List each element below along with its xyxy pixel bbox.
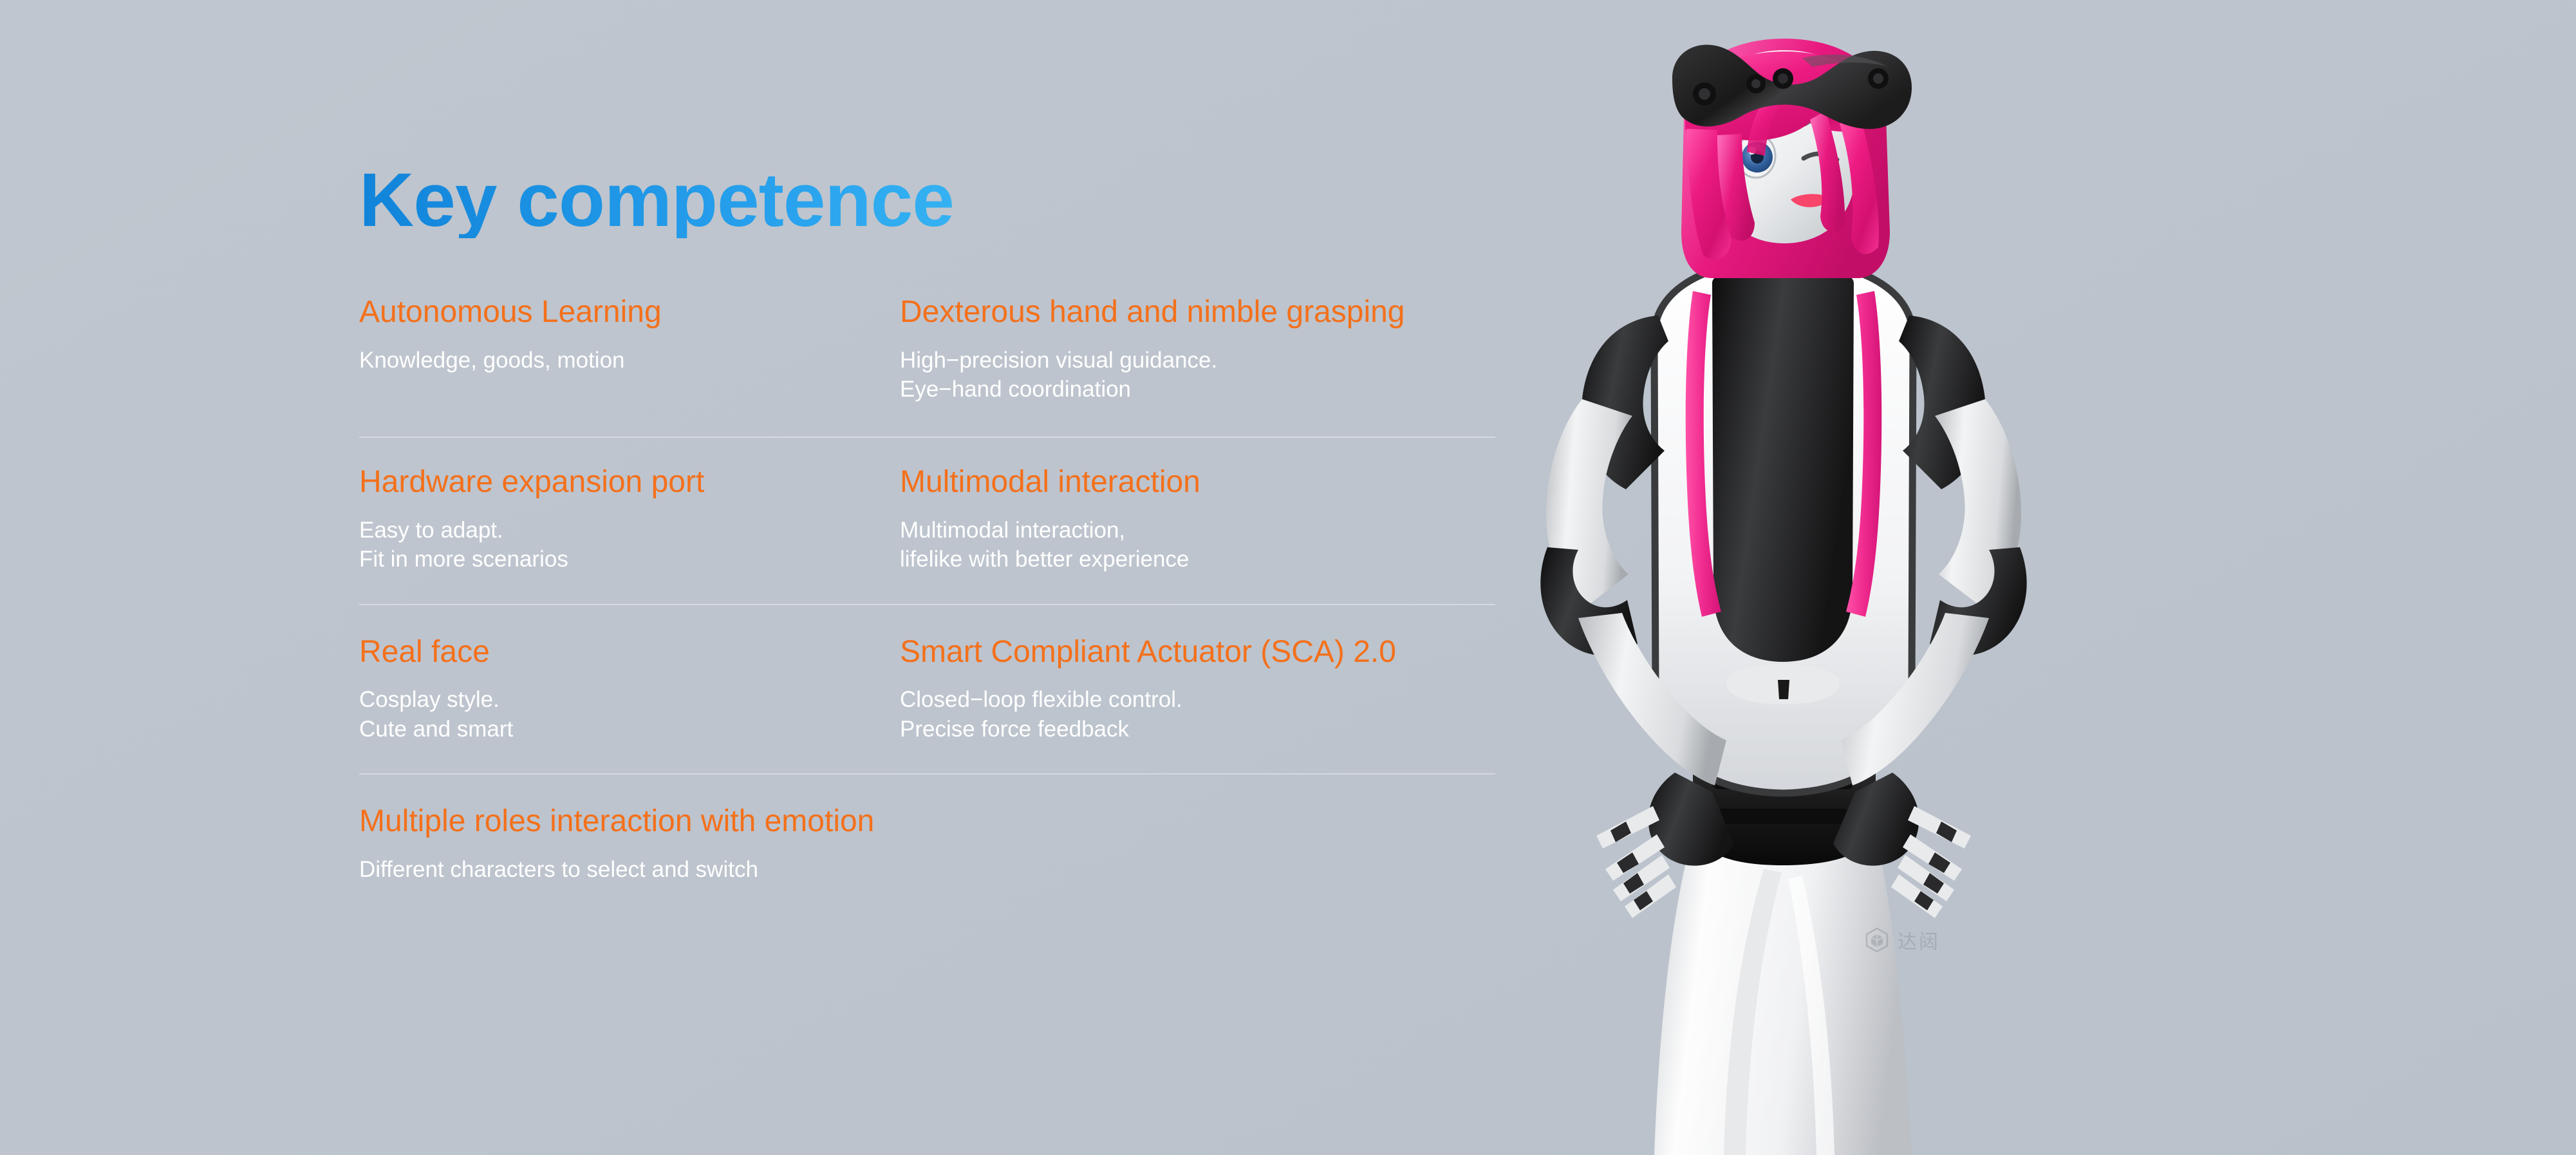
feature-heading: Autonomous Learning (359, 295, 900, 330)
feature-cell: Multiple roles interaction with emotion … (359, 804, 971, 884)
feature-body: Cosplay style. Cute and smart (359, 685, 900, 744)
feature-grid: Autonomous Learning Knowledge, goods, mo… (359, 295, 1511, 885)
feature-cell: Hardware expansion port Easy to adapt. F… (359, 465, 900, 574)
feature-heading: Smart Compliant Actuator (SCA) 2.0 (900, 635, 1511, 670)
feature-cell: Multimodal interaction Multimodal intera… (900, 465, 1511, 574)
feature-heading: Multiple roles interaction with emotion (359, 804, 971, 839)
feature-body: High−precision visual guidance. Eye−hand… (900, 346, 1511, 404)
feature-heading: Dexterous hand and nimble grasping (900, 295, 1511, 330)
brand-name-cn: 达闼 (1898, 926, 1940, 954)
feature-body: Multimodal interaction, lifelike with be… (900, 516, 1511, 574)
page-title: Key competence (359, 162, 1511, 238)
feature-cell: Real face Cosplay style. Cute and smart (359, 635, 900, 744)
content-area: Key competence Autonomous Learning Knowl… (359, 162, 1511, 885)
feature-body: Closed−loop flexible control. Precise fo… (900, 685, 1511, 744)
feature-heading: Hardware expansion port (359, 465, 900, 500)
feature-heading: Real face (359, 635, 900, 670)
feature-cell: Autonomous Learning Knowledge, goods, mo… (359, 295, 900, 404)
feature-cell: Dexterous hand and nimble grasping High−… (900, 295, 1511, 404)
cube-logo-icon (1864, 927, 1890, 953)
feature-row: Multiple roles interaction with emotion … (359, 775, 1511, 884)
feature-body: Knowledge, goods, motion (359, 346, 900, 375)
feature-body: Different characters to select and switc… (359, 855, 971, 885)
feature-row: Autonomous Learning Knowledge, goods, mo… (359, 295, 1511, 437)
brand-watermark: 达闼 (1864, 926, 1940, 954)
feature-body: Easy to adapt. Fit in more scenarios (359, 516, 900, 574)
feature-row: Hardware expansion port Easy to adapt. F… (359, 438, 1511, 604)
robot-chest-panel (1712, 270, 1854, 662)
feature-row: Real face Cosplay style. Cute and smart … (359, 605, 1511, 774)
robot-illustration (1500, 39, 2092, 1155)
slide-canvas: Key competence Autonomous Learning Knowl… (0, 0, 2576, 1155)
robot-legs (1654, 843, 1912, 1155)
feature-cell: Smart Compliant Actuator (SCA) 2.0 Close… (900, 635, 1511, 744)
feature-heading: Multimodal interaction (900, 465, 1511, 500)
